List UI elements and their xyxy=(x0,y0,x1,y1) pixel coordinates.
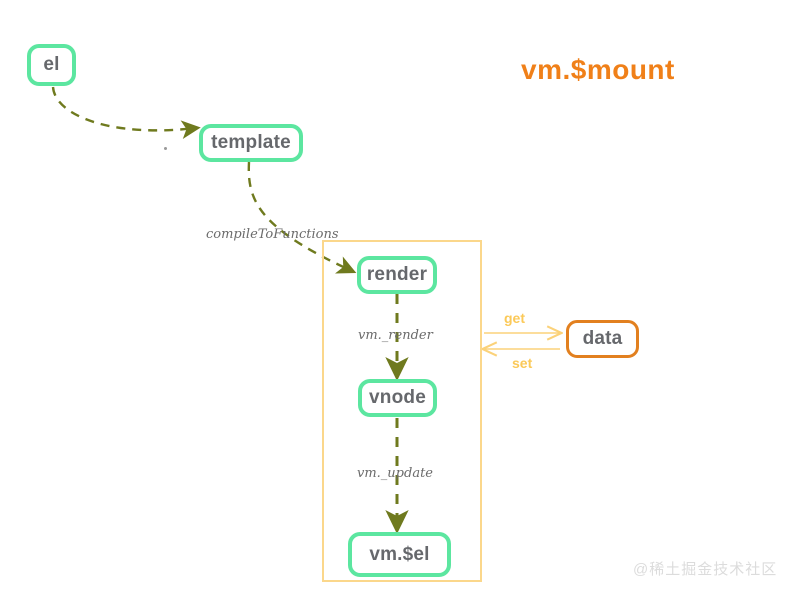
watermark: @稀土掘金技术社区 xyxy=(633,558,777,579)
node-vnode[interactable]: vnode xyxy=(358,379,437,417)
edge-el-to-template xyxy=(53,87,196,130)
edge-label-vm-render: vm._render xyxy=(358,328,433,343)
node-vm-el[interactable]: vm.$el xyxy=(348,532,451,577)
node-vnode-label: vnode xyxy=(369,387,426,409)
diagram-canvas: vm.$mount el template compileToFunctions… xyxy=(0,0,800,595)
decorative-dot xyxy=(164,147,167,150)
node-template[interactable]: template xyxy=(199,124,303,162)
node-vm-el-label: vm.$el xyxy=(369,544,429,566)
page-title: vm.$mount xyxy=(521,54,675,86)
node-el-label: el xyxy=(43,54,59,76)
node-template-label: template xyxy=(211,132,291,154)
node-data[interactable]: data xyxy=(566,320,639,358)
node-render-label: render xyxy=(367,264,427,286)
node-render[interactable]: render xyxy=(357,256,437,294)
node-el[interactable]: el xyxy=(27,44,76,86)
edge-label-vm-update: vm._update xyxy=(357,466,433,481)
flow-label-get: get xyxy=(504,310,525,326)
edge-label-compile-to-functions: compileToFunctions xyxy=(206,227,339,242)
node-data-label: data xyxy=(583,328,623,350)
flow-label-set: set xyxy=(512,355,532,371)
